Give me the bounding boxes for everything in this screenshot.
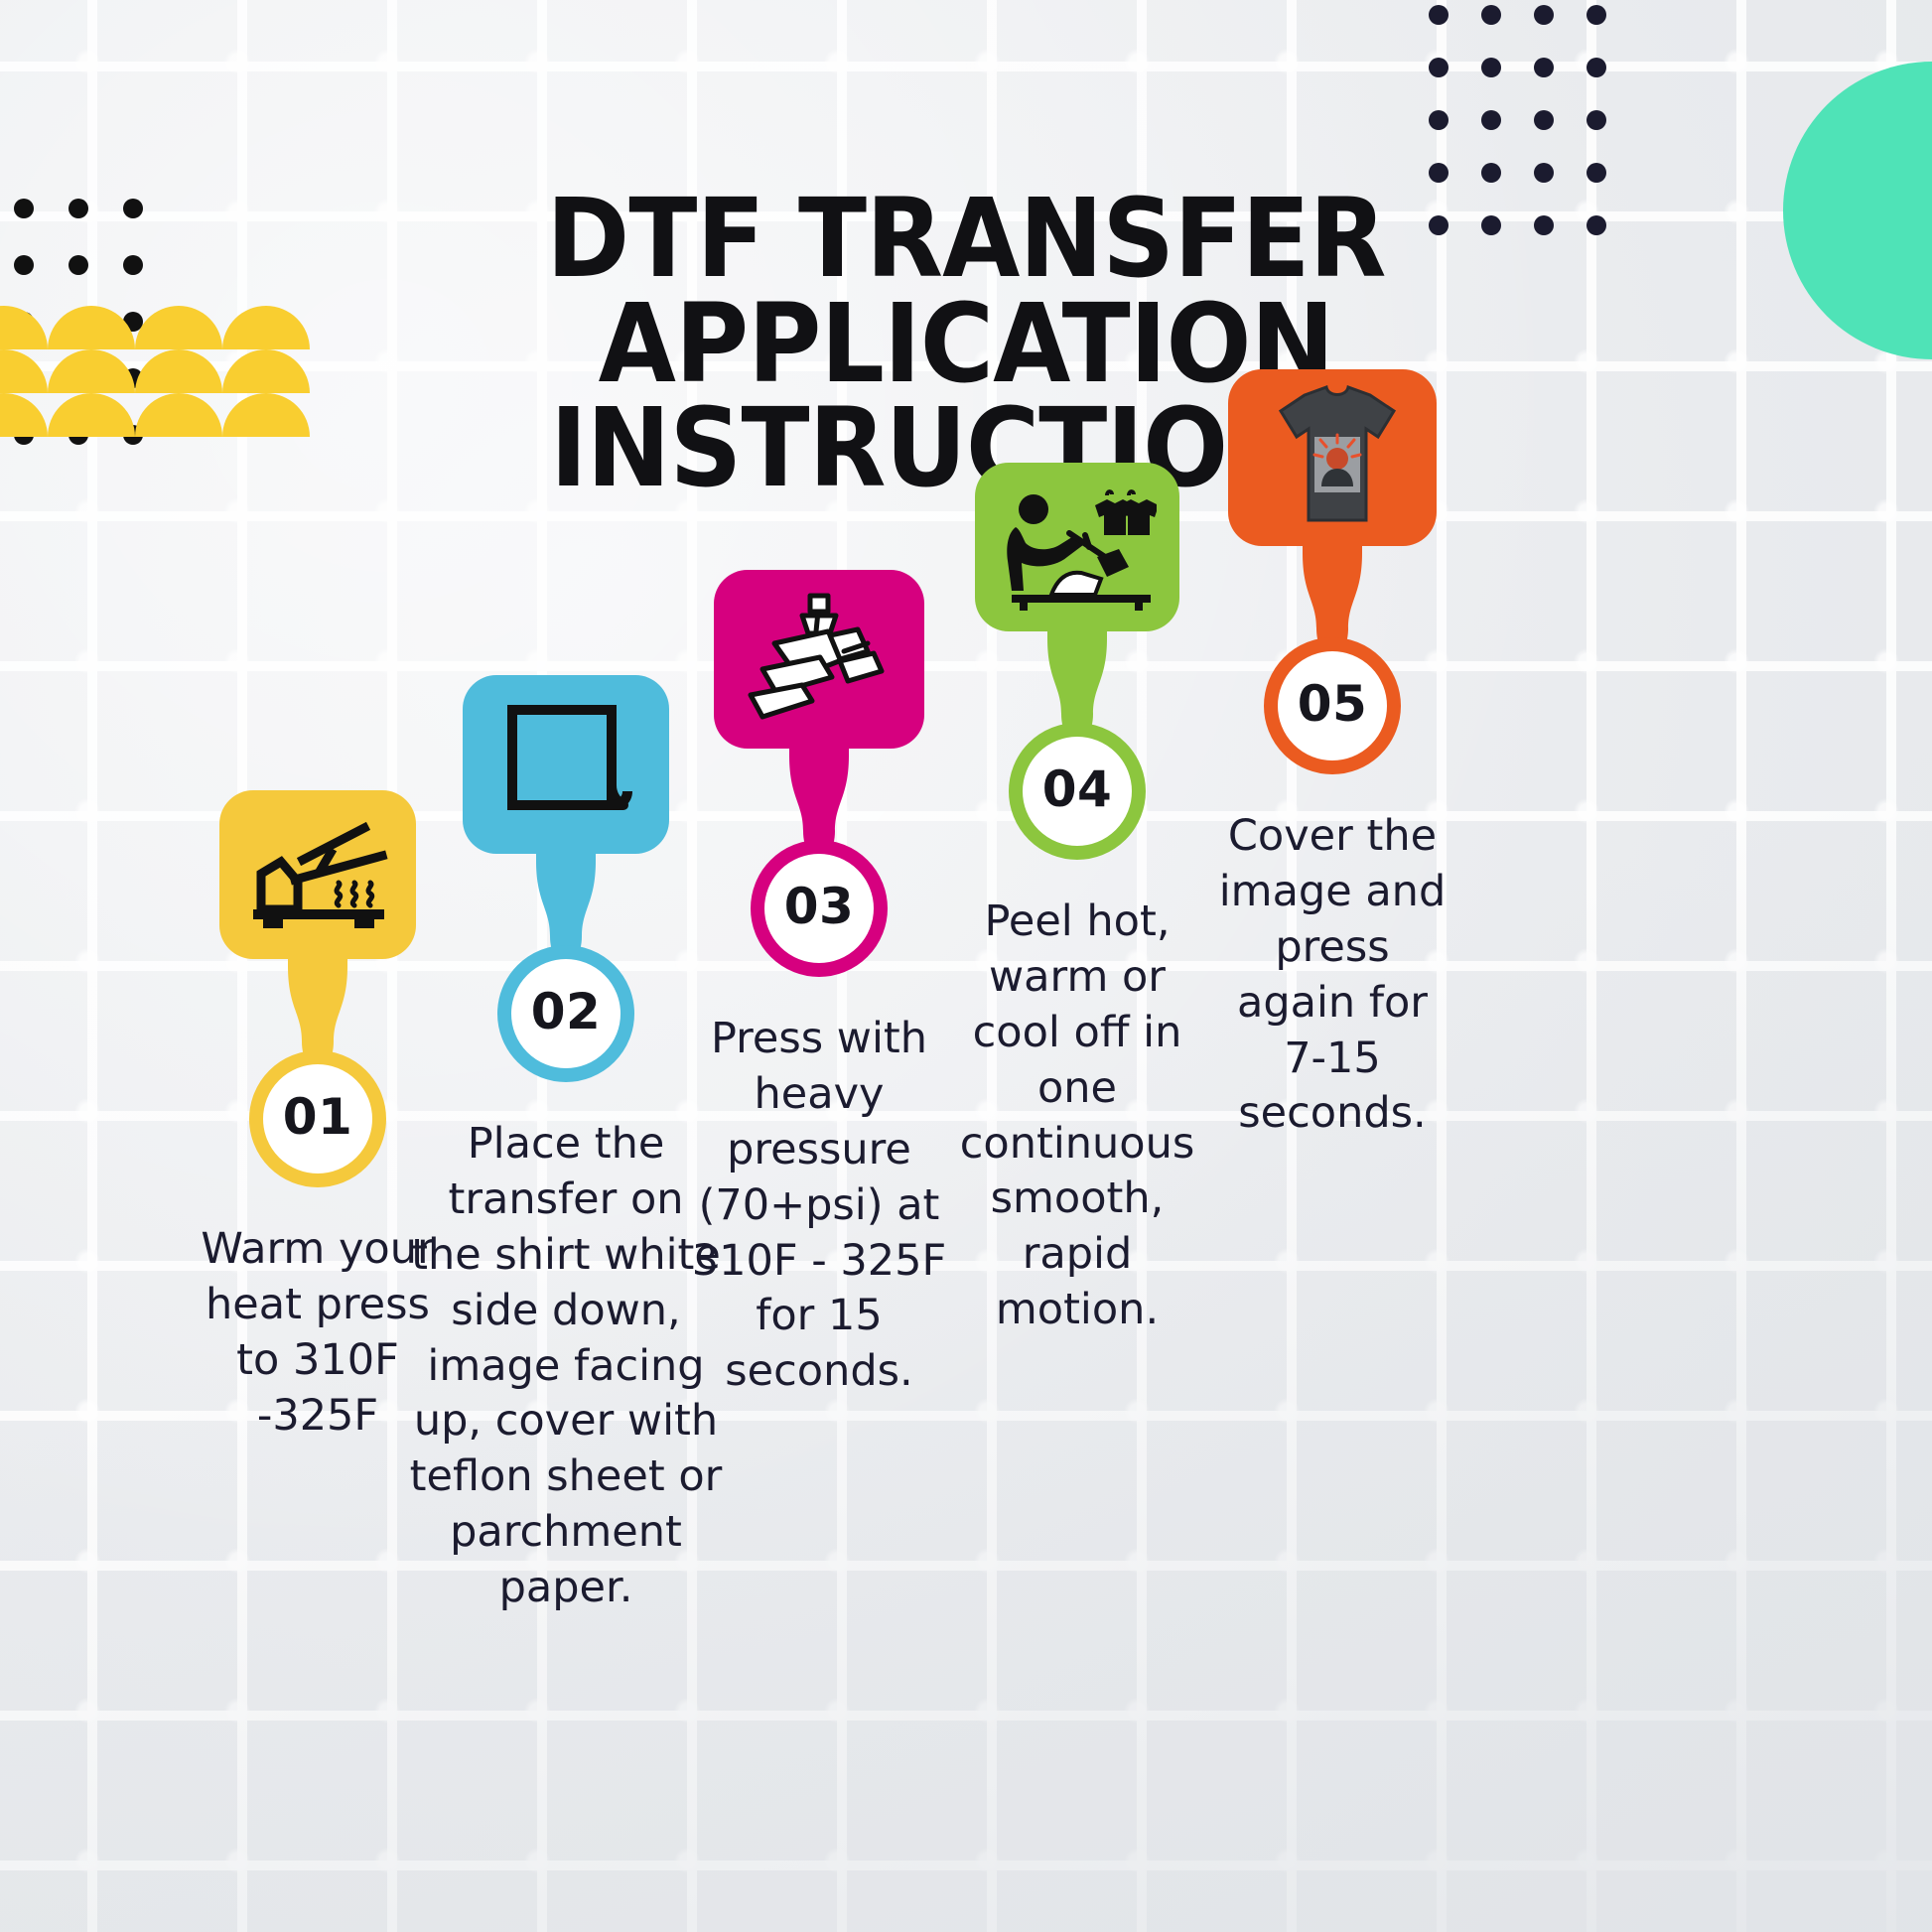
step-05: 05 Cover the image and press again for 7… — [1164, 369, 1501, 1142]
infographic-poster: DTF TRANSFER APPLICATION INSTRUCTIONS — [0, 0, 1932, 1932]
step-04-number: 04 — [998, 710, 1157, 869]
step-01-number-bubble: 01 — [238, 1037, 397, 1196]
step-02-number: 02 — [486, 932, 645, 1091]
printed-tshirt-icon — [1253, 385, 1412, 530]
step-01-icon-card — [219, 790, 416, 959]
page-title: DTF TRANSFER APPLICATION INSTRUCTIONS — [77, 187, 1855, 501]
step-05-caption: Cover the image and press again for 7-15… — [1219, 809, 1447, 1142]
step-04-number-bubble: 04 — [998, 710, 1157, 869]
step-04-caption: Peel hot, warm or cool off in one contin… — [960, 895, 1194, 1338]
heat-press-pressing-icon — [745, 592, 894, 727]
step-01-number: 01 — [238, 1037, 397, 1196]
step-05-icon-card — [1228, 369, 1437, 546]
step-05-number: 05 — [1253, 624, 1412, 783]
step-03-number-bubble: 03 — [740, 827, 898, 986]
peeling-transfer-icon — [998, 483, 1157, 611]
step-04-icon-card — [975, 463, 1179, 631]
step-02-number-bubble: 02 — [486, 932, 645, 1091]
step-03-icon-card — [714, 570, 924, 749]
step-02-icon-card — [463, 675, 669, 854]
transfer-sheet-icon — [496, 702, 635, 827]
step-05-number-bubble: 05 — [1253, 624, 1412, 783]
step-03-number: 03 — [740, 827, 898, 986]
heat-press-icon — [243, 820, 392, 929]
